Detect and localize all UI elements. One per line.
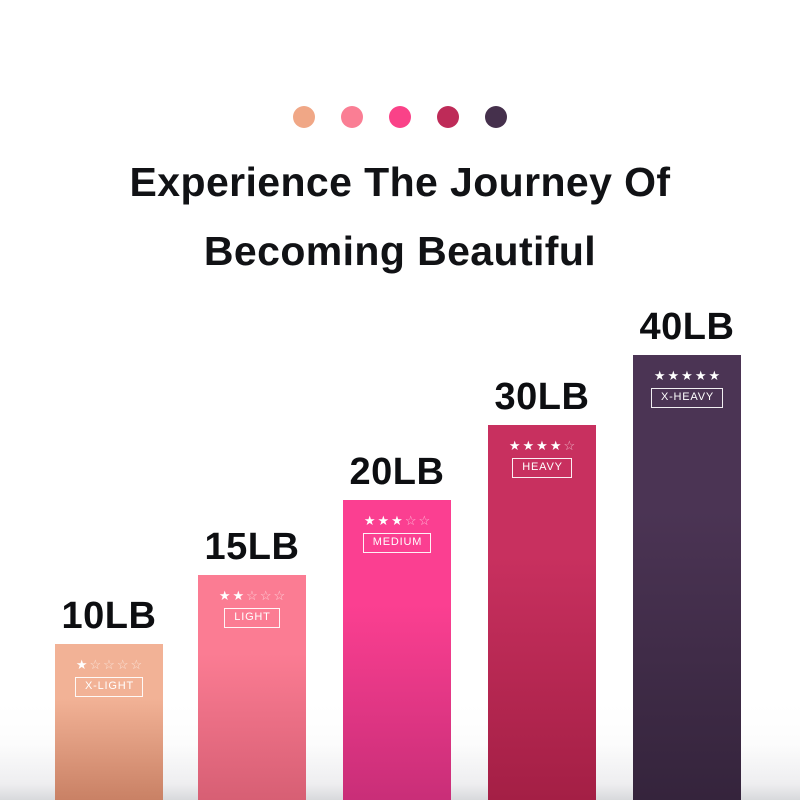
bar-group-20lb[interactable]: 20LB★★★☆☆MEDIUM [343,500,451,800]
star-filled-icon: ★ [391,514,403,527]
star-rating: ★☆☆☆☆ [76,658,142,671]
star-filled-icon: ★ [378,514,390,527]
bar-value-label: 20LB [350,451,445,494]
star-filled-icon: ★ [364,514,376,527]
resistance-bar-chart: 10LB★☆☆☆☆X-LIGHT15LB★★☆☆☆LIGHT20LB★★★☆☆M… [0,0,800,800]
bar-column[interactable]: ★★★☆☆MEDIUM [343,500,451,800]
star-filled-icon: ★ [219,589,231,602]
star-filled-icon: ★ [695,369,707,382]
grade-badge: X-HEAVY [651,388,723,408]
bar-value-label: 40LB [640,306,735,349]
bar-value-label: 10LB [62,595,157,638]
bar-column[interactable]: ★★☆☆☆LIGHT [198,575,306,800]
bar-group-10lb[interactable]: 10LB★☆☆☆☆X-LIGHT [55,644,163,800]
bar-value-label: 15LB [205,526,300,569]
star-filled-icon: ★ [708,369,720,382]
star-empty-icon: ☆ [418,514,430,527]
star-rating: ★★☆☆☆ [219,589,285,602]
bar-column[interactable]: ★★★★★X-HEAVY [633,355,741,800]
bar-column[interactable]: ★☆☆☆☆X-LIGHT [55,644,163,800]
star-filled-icon: ★ [654,369,666,382]
star-filled-icon: ★ [523,439,535,452]
bar-rating-block: ★★☆☆☆LIGHT [198,589,306,628]
star-empty-icon: ☆ [405,514,417,527]
star-rating: ★★★☆☆ [364,514,430,527]
star-empty-icon: ☆ [246,589,258,602]
star-rating: ★★★★★ [654,369,720,382]
star-filled-icon: ★ [76,658,88,671]
star-filled-icon: ★ [509,439,521,452]
star-filled-icon: ★ [668,369,680,382]
bar-value-label: 30LB [495,376,590,419]
star-filled-icon: ★ [536,439,548,452]
bar-group-15lb[interactable]: 15LB★★☆☆☆LIGHT [198,575,306,800]
bar-column[interactable]: ★★★★☆HEAVY [488,425,596,800]
bar-rating-block: ★★★★★X-HEAVY [633,369,741,408]
star-empty-icon: ☆ [103,658,115,671]
star-empty-icon: ☆ [273,589,285,602]
bar-group-40lb[interactable]: 40LB★★★★★X-HEAVY [633,355,741,800]
grade-badge: X-LIGHT [75,677,143,697]
star-empty-icon: ☆ [130,658,142,671]
star-empty-icon: ☆ [117,658,129,671]
grade-badge: MEDIUM [363,533,431,553]
product-infographic: Experience The Journey Of Becoming Beaut… [0,0,800,800]
star-empty-icon: ☆ [260,589,272,602]
bar-rating-block: ★★★★☆HEAVY [488,439,596,478]
star-filled-icon: ★ [681,369,693,382]
star-empty-icon: ☆ [90,658,102,671]
bar-group-30lb[interactable]: 30LB★★★★☆HEAVY [488,425,596,800]
grade-badge: HEAVY [512,458,571,478]
star-empty-icon: ☆ [563,439,575,452]
grade-badge: LIGHT [224,608,279,628]
bar-rating-block: ★★★☆☆MEDIUM [343,514,451,553]
star-filled-icon: ★ [550,439,562,452]
bar-rating-block: ★☆☆☆☆X-LIGHT [55,658,163,697]
star-filled-icon: ★ [233,589,245,602]
star-rating: ★★★★☆ [509,439,575,452]
